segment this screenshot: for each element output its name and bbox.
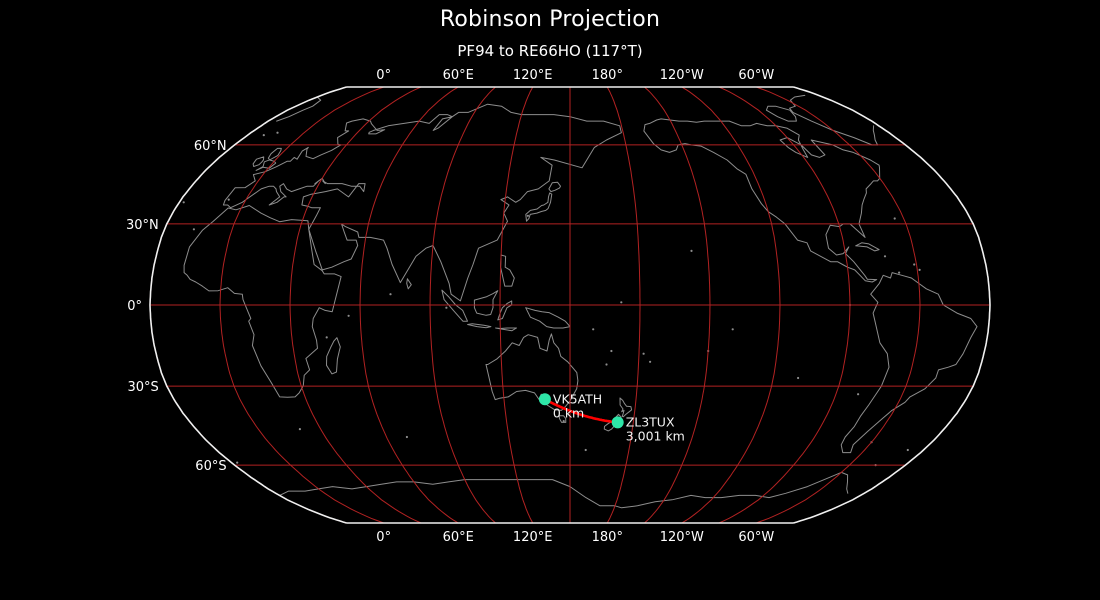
island-dot: [228, 199, 230, 201]
lat-tick: 60°N: [194, 139, 227, 154]
island-dot: [193, 228, 195, 230]
coastline-segment: [856, 243, 879, 251]
coastline-segment: [442, 290, 468, 321]
coastline-segment: [526, 193, 552, 221]
lon-tick-bottom: 120°E: [513, 530, 553, 545]
station-marker-vk5ath[interactable]: [539, 393, 551, 405]
robinson-map-canvas: 0°60°E120°E180°120°W60°W0°60°E120°E180°1…: [0, 0, 1100, 600]
island-dot: [348, 315, 350, 317]
lon-tick-bottom: 60°E: [443, 530, 474, 545]
island-dot: [643, 353, 645, 355]
island-dot: [605, 363, 607, 365]
lon-tick-bottom: 0°: [376, 530, 391, 545]
island-dot: [299, 428, 301, 430]
lon-tick-top: 180°: [592, 68, 623, 83]
coastline-segment: [474, 291, 497, 316]
island-dot: [183, 201, 185, 203]
island-dot: [620, 301, 622, 303]
station-distance-label: 3,001 km: [626, 428, 685, 443]
lon-tick-bottom: 60°W: [738, 530, 774, 545]
coastline-segment: [501, 255, 515, 286]
island-dot: [326, 336, 328, 338]
coastline-segment: [468, 324, 491, 328]
island-dot: [527, 215, 529, 217]
lon-tick-top: 0°: [376, 68, 391, 83]
map-figure: Robinson Projection PF94 to RE66HO (117°…: [0, 0, 1100, 600]
island-dot: [732, 328, 734, 330]
coastline-segment: [223, 104, 621, 301]
coastline-segment: [407, 279, 412, 289]
coastline-segment: [766, 106, 796, 121]
island-dot: [649, 361, 651, 363]
coastlines-layer: [183, 95, 977, 507]
lon-tick-top: 120°W: [660, 68, 704, 83]
island-dot: [690, 250, 692, 252]
station-marker-zl3tux[interactable]: [612, 416, 624, 428]
island-dot: [857, 393, 859, 395]
lon-tick-top: 120°E: [513, 68, 553, 83]
lat-tick: 0°: [127, 299, 142, 314]
island-dot: [585, 449, 587, 451]
island-dot: [907, 449, 909, 451]
island-dot: [610, 350, 612, 352]
lon-tick-bottom: 120°W: [660, 530, 704, 545]
island-dot: [263, 134, 265, 136]
island-dot: [884, 255, 886, 257]
coastline-segment: [873, 126, 877, 145]
lat-tick: 30°S: [128, 380, 159, 395]
coastline-segment: [526, 308, 570, 328]
island-dot: [919, 269, 921, 271]
lat-tick: 30°N: [126, 218, 159, 233]
island-dot: [389, 293, 391, 295]
island-dot: [236, 462, 238, 464]
coastline-segment: [496, 328, 517, 331]
lon-tick-bottom: 180°: [592, 530, 623, 545]
graticule-layer: [150, 87, 990, 523]
station-callsign-label: VK5ATH: [553, 391, 602, 406]
coastline-segment: [277, 97, 321, 121]
island-dot: [445, 307, 447, 309]
island-dot: [898, 272, 900, 274]
coastline-segment: [184, 206, 341, 398]
coastline-segment: [327, 338, 341, 374]
coastline-segment: [549, 182, 561, 191]
island-dot: [913, 263, 915, 265]
coastline-segment: [841, 273, 977, 453]
lat-tick: 60°S: [195, 459, 226, 474]
coastline-segment: [841, 472, 848, 493]
island-dot: [563, 420, 565, 422]
island-dot: [797, 377, 799, 379]
coastline-segment: [790, 95, 878, 144]
coastline-segment: [280, 472, 842, 507]
island-dot: [592, 328, 594, 330]
coastline-segment: [644, 119, 880, 282]
island-dot: [894, 217, 896, 219]
island-dot: [406, 436, 408, 438]
lon-tick-top: 60°E: [443, 68, 474, 83]
lon-tick-top: 60°W: [738, 68, 774, 83]
island-dot: [276, 132, 278, 134]
station-callsign-label: ZL3TUX: [626, 414, 675, 429]
station-distance-label: 0 km: [553, 405, 584, 420]
coastline-segment: [253, 157, 264, 167]
